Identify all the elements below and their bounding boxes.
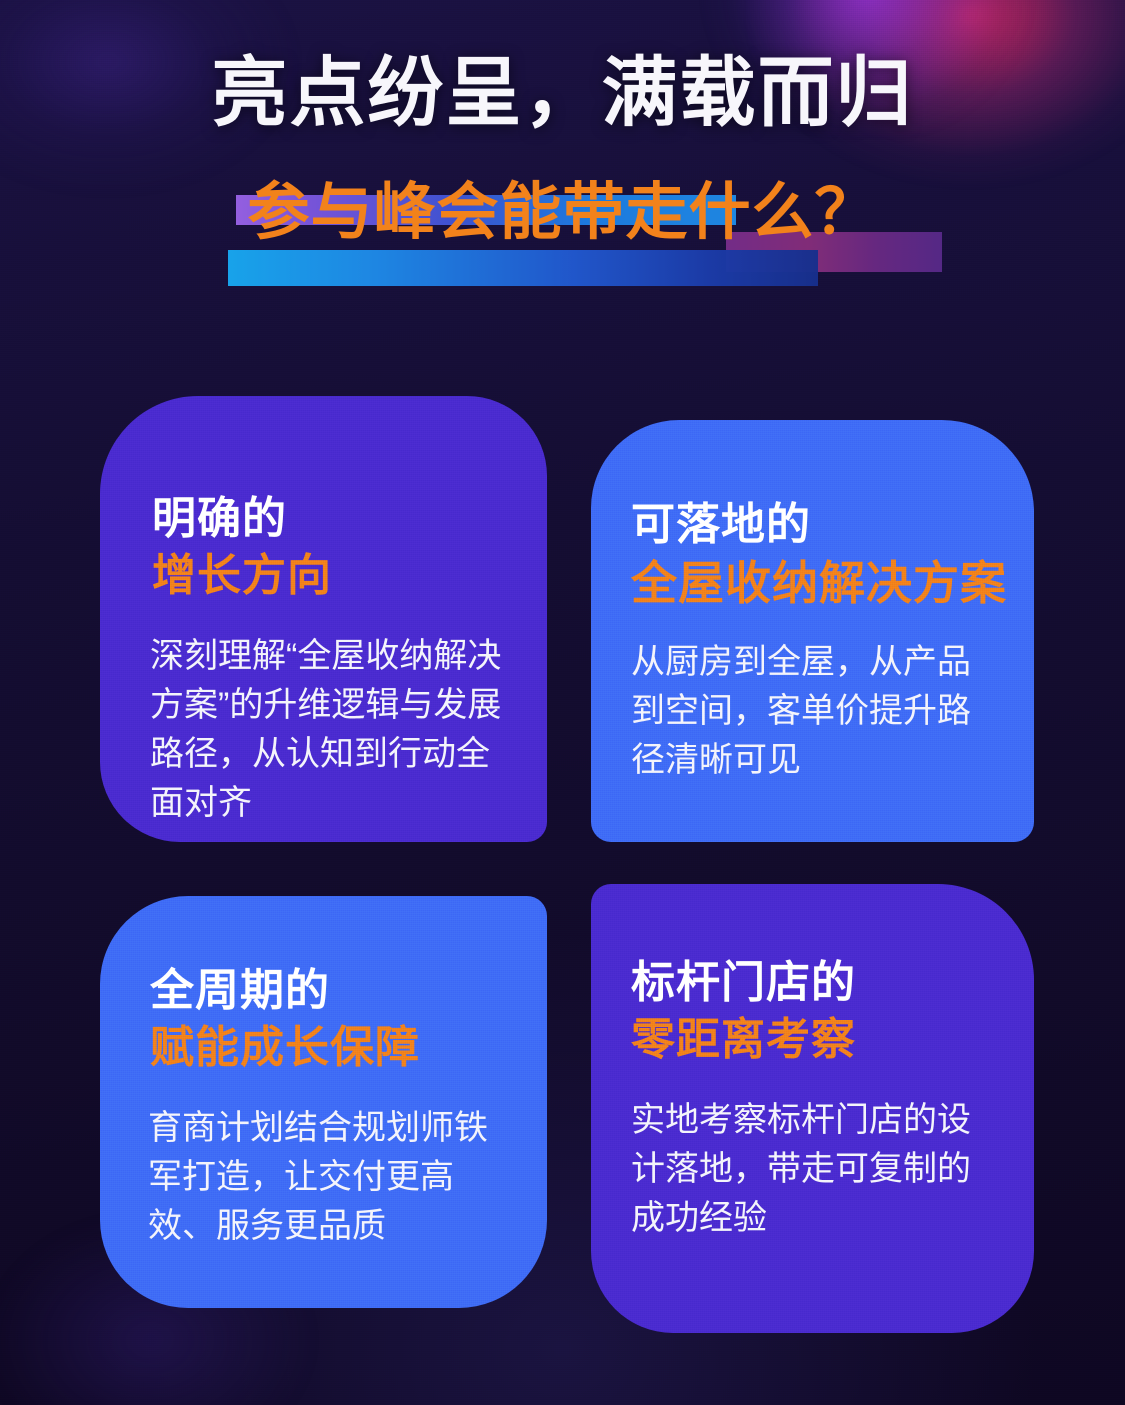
card-heading-orange: 增长方向 bbox=[152, 553, 332, 599]
page-subtitle: 参与峰会能带走什么？ bbox=[0, 182, 1125, 244]
card-inner: 标杆门店的 零距离考察 实地考察标杆门店的设计落地，带走可复制的成功经验 bbox=[591, 884, 1034, 1333]
subtitle-block: 参与峰会能带走什么？ bbox=[0, 176, 1125, 286]
card-body-text: 实地考察标杆门店的设计落地，带走可复制的成功经验 bbox=[631, 1096, 1001, 1243]
card-heading-orange: 赋能成长保障 bbox=[150, 1025, 420, 1071]
page-title: 亮点纷呈，满载而归 bbox=[0, 56, 1125, 132]
card-body-text: 育商计划结合规划师铁军打造，让交付更高效、服务更品质 bbox=[148, 1104, 510, 1251]
card-inner: 明确的 增长方向 深刻理解“全屋收纳解决方案”的升维逻辑与发展路径，从认知到行动… bbox=[100, 396, 547, 842]
poster-stage: 亮点纷呈，满载而归 参与峰会能带走什么？ 明确的 增长方向 深刻理解“全屋收纳解… bbox=[0, 0, 1125, 1405]
card-inner: 可落地的 全屋收纳解决方案 从厨房到全屋，从产品到空间，客单价提升路径清晰可见 bbox=[591, 420, 1034, 842]
card-heading-orange: 零距离考察 bbox=[631, 1017, 856, 1063]
card-body-text: 从厨房到全屋，从产品到空间，客单价提升路径清晰可见 bbox=[631, 638, 1003, 785]
decorative-bar-bottom bbox=[228, 250, 818, 286]
card-benchmark-store[interactable]: 标杆门店的 零距离考察 实地考察标杆门店的设计落地，带走可复制的成功经验 bbox=[591, 884, 1034, 1333]
card-heading-white: 明确的 bbox=[152, 496, 287, 542]
card-growth-direction[interactable]: 明确的 增长方向 深刻理解“全屋收纳解决方案”的升维逻辑与发展路径，从认知到行动… bbox=[100, 396, 547, 842]
card-heading-white: 可落地的 bbox=[631, 502, 811, 548]
card-growth-guarantee[interactable]: 全周期的 赋能成长保障 育商计划结合规划师铁军打造，让交付更高效、服务更品质 bbox=[100, 896, 547, 1308]
card-heading-orange: 全屋收纳解决方案 bbox=[631, 559, 1007, 607]
card-inner: 全周期的 赋能成长保障 育商计划结合规划师铁军打造，让交付更高效、服务更品质 bbox=[100, 896, 547, 1308]
card-body-text: 深刻理解“全屋收纳解决方案”的升维逻辑与发展路径，从认知到行动全面对齐 bbox=[150, 632, 502, 828]
card-heading-white: 标杆门店的 bbox=[631, 960, 856, 1006]
card-whole-house-solution[interactable]: 可落地的 全屋收纳解决方案 从厨房到全屋，从产品到空间，客单价提升路径清晰可见 bbox=[591, 420, 1034, 842]
card-heading-white: 全周期的 bbox=[150, 968, 330, 1014]
